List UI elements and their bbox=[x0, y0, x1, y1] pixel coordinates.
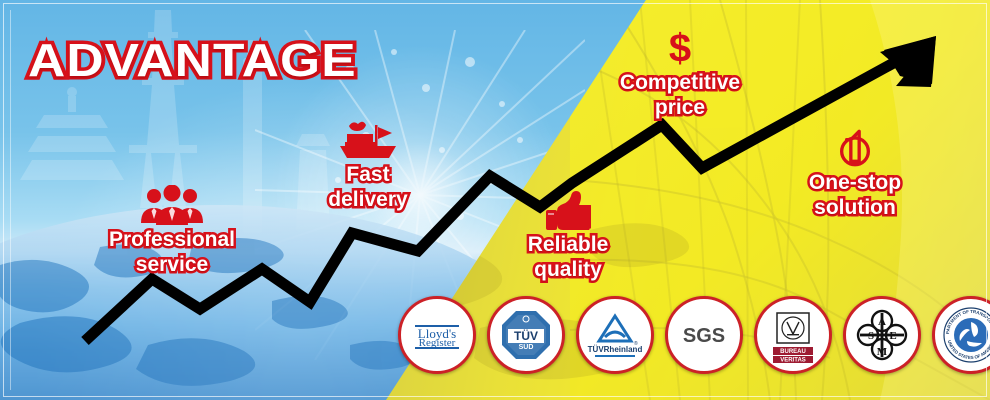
page-title: ADVANTAGE bbox=[28, 34, 357, 86]
feature-label-line2: quality bbox=[483, 257, 653, 282]
svg-text:VERITAS: VERITAS bbox=[780, 358, 806, 364]
feature-label-line1: Reliable bbox=[483, 232, 653, 257]
svg-text:SGS: SGS bbox=[683, 325, 725, 347]
badge-bureau-veritas[interactable]: BUREAU VERITAS bbox=[754, 296, 832, 374]
svg-text:BUREAU: BUREAU bbox=[780, 349, 806, 355]
dollar-sign-icon: $ bbox=[663, 28, 697, 68]
badge-tuv-sud[interactable]: TÜV SÜD bbox=[487, 296, 565, 374]
advantage-banner: ADVANTAGE Professional service bbox=[0, 0, 990, 400]
feature-competitive-price: $ Competitive price bbox=[570, 28, 790, 120]
svg-text:S: S bbox=[868, 330, 874, 342]
svg-text:TÜV: TÜV bbox=[514, 328, 538, 343]
feature-professional-service: Professional service bbox=[87, 185, 257, 277]
feature-label-line1: Competitive bbox=[570, 70, 790, 95]
svg-text:A: A bbox=[878, 316, 886, 328]
lloyds-register-logo: Lloyd's Register bbox=[405, 303, 469, 367]
number-one-circle-icon bbox=[830, 128, 880, 168]
thumbs-up-icon bbox=[545, 190, 591, 230]
feature-fast-delivery: Fast delivery bbox=[283, 120, 453, 212]
svg-text:®: ® bbox=[634, 340, 638, 347]
people-group-icon bbox=[139, 185, 205, 225]
svg-text:M: M bbox=[877, 346, 888, 358]
lloyds-text-line2: Register bbox=[419, 337, 456, 349]
svg-text:SÜD: SÜD bbox=[519, 342, 534, 351]
feature-label-line1: Professional bbox=[87, 227, 257, 252]
tuv-sud-logo: TÜV SÜD bbox=[494, 303, 558, 367]
us-dot-seal-logo: DEPARTMENT OF TRANSPORTATION UNITED STAT… bbox=[939, 303, 990, 367]
feature-label-line1: One-stop bbox=[760, 170, 950, 195]
feature-reliable-quality: Reliable quality bbox=[483, 190, 653, 282]
bureau-veritas-logo: BUREAU VERITAS bbox=[761, 303, 825, 367]
tuv-rheinland-logo: TÜVRheinland ® bbox=[583, 303, 647, 367]
svg-text:$: $ bbox=[669, 28, 691, 68]
feature-label-line1: Fast bbox=[283, 162, 453, 187]
asme-logo: A S E M bbox=[850, 303, 914, 367]
certification-badge-row: Lloyd's Register TÜV SÜD TÜVRheinland bbox=[398, 296, 990, 374]
svg-text:E: E bbox=[889, 330, 896, 342]
feature-label-line2: delivery bbox=[283, 187, 453, 212]
badge-tuv-rheinland[interactable]: TÜVRheinland ® bbox=[576, 296, 654, 374]
feature-label-line2: solution bbox=[760, 195, 950, 220]
feature-one-stop-solution: One-stop solution bbox=[760, 128, 950, 220]
badge-us-dot[interactable]: DEPARTMENT OF TRANSPORTATION UNITED STAT… bbox=[932, 296, 990, 374]
cargo-ship-icon bbox=[337, 120, 399, 160]
badge-asme[interactable]: A S E M bbox=[843, 296, 921, 374]
feature-label-line2: service bbox=[87, 252, 257, 277]
feature-label-line2: price bbox=[570, 95, 790, 120]
badge-sgs[interactable]: SGS bbox=[665, 296, 743, 374]
badge-lloyds-register[interactable]: Lloyd's Register bbox=[398, 296, 476, 374]
sgs-logo: SGS bbox=[672, 303, 736, 367]
